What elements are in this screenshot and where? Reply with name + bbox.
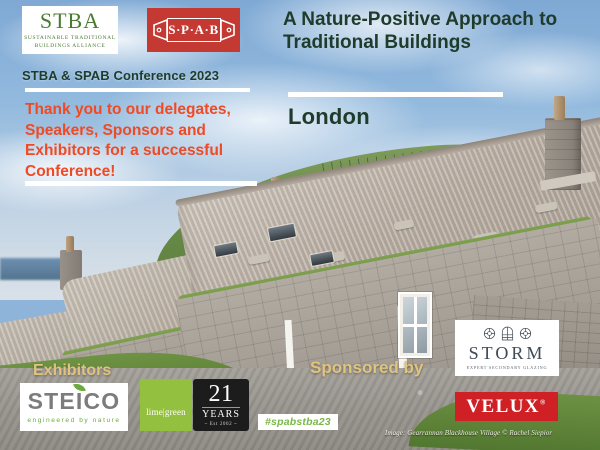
spab-bowtie-device: S·P·A·B [154, 17, 234, 43]
event-city: London [288, 104, 370, 130]
arched-window-icon [501, 326, 514, 341]
image-credit: Image: Gearrannan Blackhouse Village © R… [385, 429, 552, 437]
stba-subtitle-line-1: SUSTAINABLE TRADITIONAL [24, 35, 116, 42]
steico-logo: STEICO engineered by nature [20, 383, 128, 431]
velux-logo: VELUX® [455, 392, 558, 421]
poster-overlay: STBA SUSTAINABLE TRADITIONAL BUILDINGS A… [0, 0, 600, 450]
divider-left-top [25, 88, 250, 92]
event-hashtag: #spabstba23 [258, 414, 338, 430]
thank-you-message: Thank you to our delegates, Speakers, Sp… [25, 100, 275, 182]
velux-text: VELUX [466, 396, 540, 417]
stba-subtitle-line-2: BUILDINGS ALLIANCE [24, 43, 116, 50]
limegreen-wordmark: lime|green [146, 407, 186, 417]
divider-right [288, 92, 503, 97]
steico-wordmark: STEICO [28, 390, 121, 413]
page-title: A Nature-Positive Approach to Traditiona… [283, 8, 593, 55]
spab-name-box: S·P·A·B [167, 18, 221, 42]
round-window-icon [483, 327, 496, 340]
sponsored-by-label: Sponsored by [310, 358, 423, 378]
stba-logo-wordmark: STBA [40, 10, 100, 32]
registered-trademark-icon: ® [540, 398, 547, 406]
years-number: 21 [209, 383, 234, 406]
exhibitors-label: Exhibitors [33, 362, 111, 380]
steico-text: STEICO [28, 388, 121, 414]
stba-logo: STBA SUSTAINABLE TRADITIONAL BUILDINGS A… [22, 6, 118, 54]
storm-wordmark: STORM [469, 344, 546, 362]
storm-tagline: EXPERT SECONDARY GLAZING [467, 365, 548, 370]
bowtie-left-icon [152, 18, 168, 42]
spab-logo: S·P·A·B [147, 8, 240, 52]
storm-window-icons [483, 326, 532, 341]
years-established: ~ Est 2002 ~ [205, 422, 238, 427]
spab-logo-wordmark: S·P·A·B [168, 22, 218, 38]
bowtie-right-icon [220, 18, 236, 42]
years-label: YEARS [202, 407, 240, 420]
steico-tagline: engineered by nature [27, 417, 120, 424]
divider-left-bottom [25, 181, 257, 186]
stba-logo-subtitle: SUSTAINABLE TRADITIONAL BUILDINGS ALLIAN… [24, 35, 116, 50]
velux-wordmark: VELUX® [466, 396, 546, 418]
round-window-icon [519, 327, 532, 340]
conference-name: STBA & SPAB Conference 2023 [22, 68, 219, 83]
storm-logo: STORM EXPERT SECONDARY GLAZING [455, 320, 559, 376]
limegreen-logo: lime|green [140, 379, 192, 431]
conference-poster: STBA SUSTAINABLE TRADITIONAL BUILDINGS A… [0, 0, 600, 450]
21-years-logo: 21 YEARS ~ Est 2002 ~ [193, 379, 249, 431]
